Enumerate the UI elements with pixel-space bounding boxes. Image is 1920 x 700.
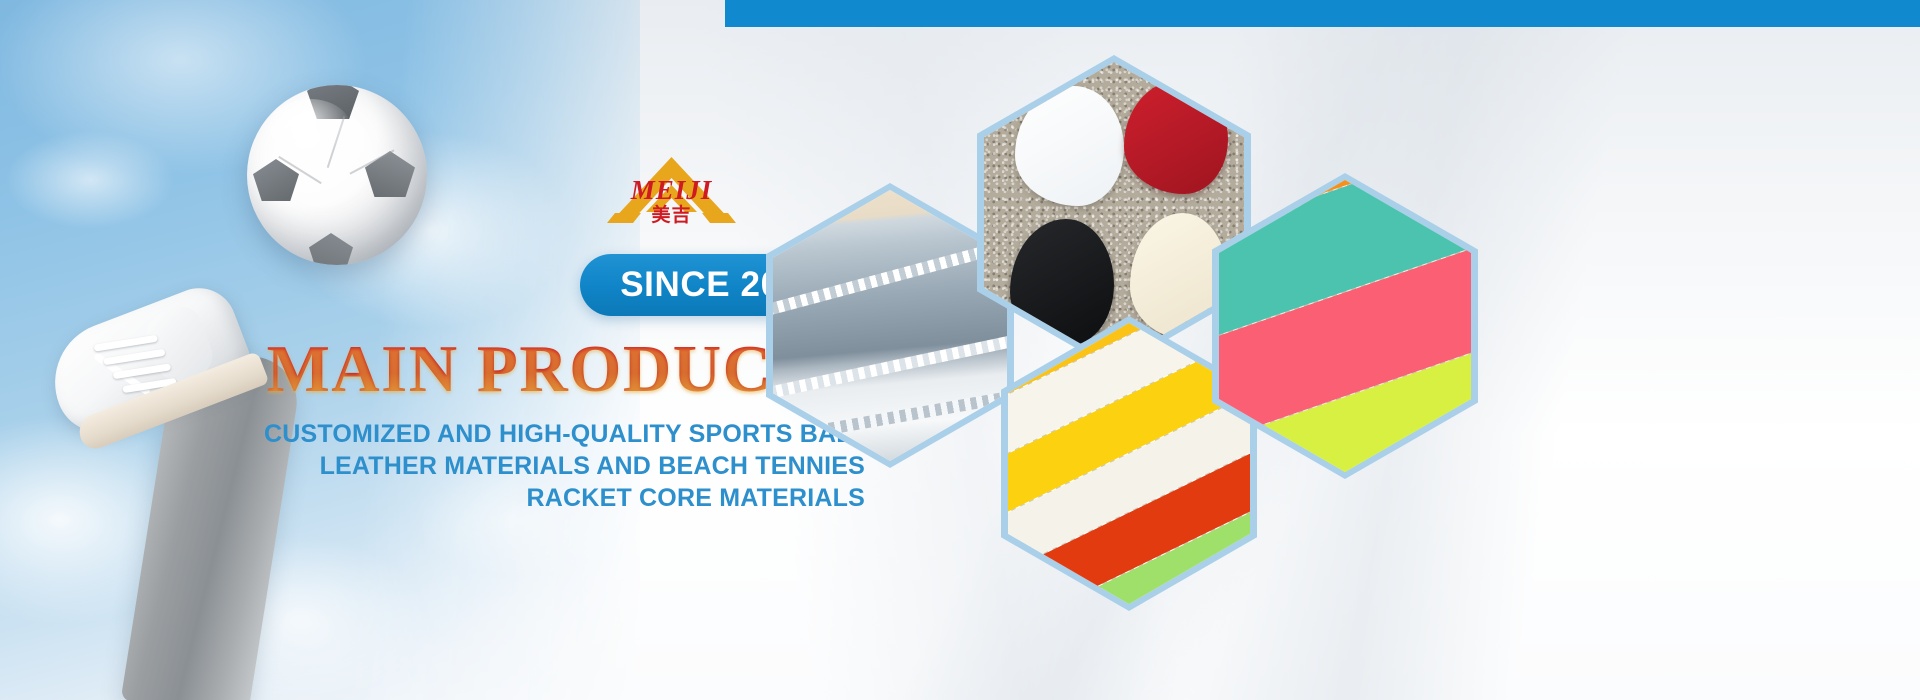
photo-inner [773,190,1007,461]
top-blue-bar [725,0,1920,27]
fabric-pinked-edge [773,332,1007,402]
soccer-ball-image [247,85,427,265]
svg-text:美吉: 美吉 [651,203,691,226]
photo-inner [1219,180,1471,472]
subtitle-block: CUSTOMIZED AND HIGH-QUALITY SPORTS BALL … [264,418,865,514]
ball-panel [309,233,353,265]
product-banner: MEIJI 美吉 SINCE 2015 MAIN PRODUCTS CUSTOM… [0,0,1920,700]
ball-panel [365,151,415,197]
foam-pad-white [1015,86,1124,206]
subtitle-line-1: CUSTOMIZED AND HIGH-QUALITY SPORTS BALL [264,418,865,450]
fabric-pinked-edge [773,235,1007,319]
subtitle-line-2: LEATHER MATERIALS AND BEACH TENNIES [264,450,865,482]
grey-fabric-photo [773,190,1007,461]
svg-text:MEIJI: MEIJI [630,175,713,205]
subtitle-line-3: RACKET CORE MATERIALS [264,482,865,514]
meiji-logo: MEIJI 美吉 [601,151,742,232]
solid-swatches-photo [1219,180,1471,472]
ball-highlight [269,99,351,157]
